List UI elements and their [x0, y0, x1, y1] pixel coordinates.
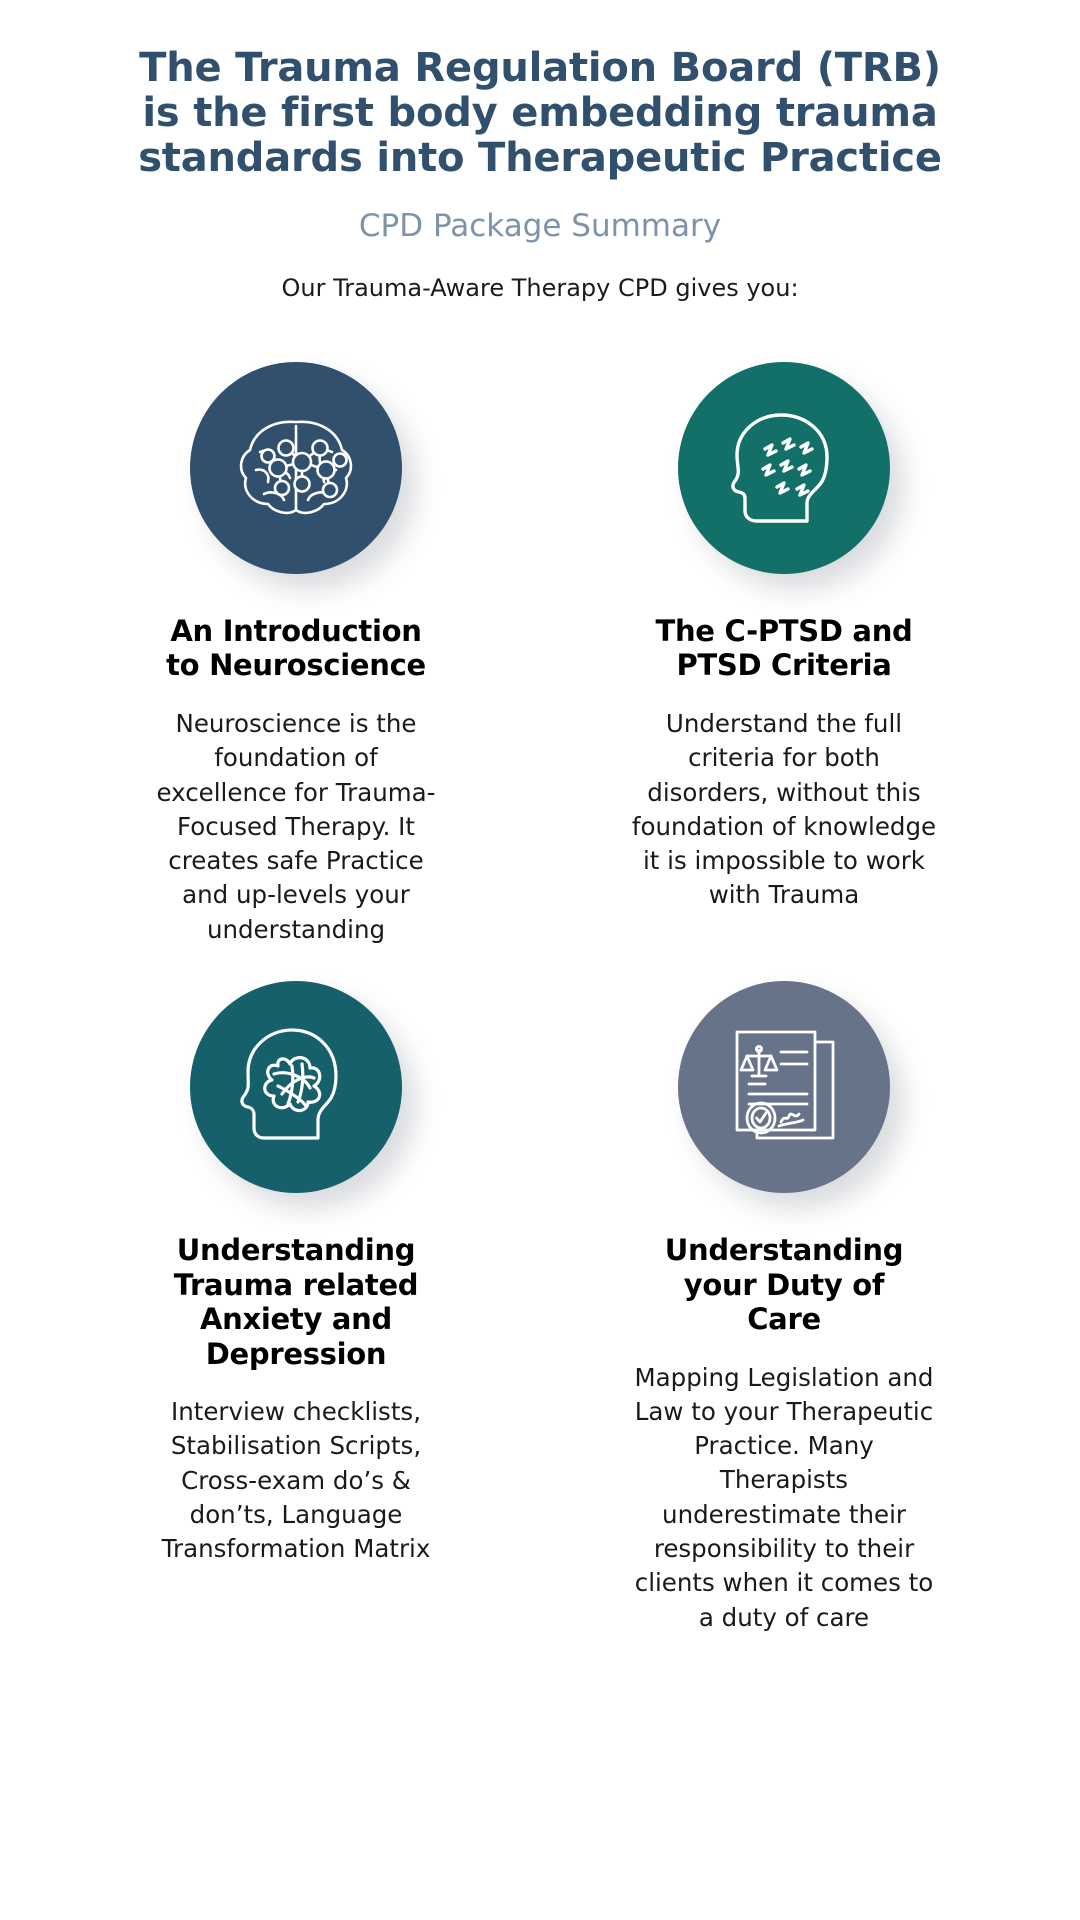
- legal-document-scales-seal-icon: [678, 981, 890, 1193]
- card-title: Understanding your Duty of Care: [649, 1233, 919, 1337]
- feature-card-grid: An Introduction to Neuroscience Neurosci…: [0, 362, 1080, 1635]
- card-title: Understanding Trauma related Anxiety and…: [131, 1233, 461, 1371]
- infographic-page: The Trauma Regulation Board (TRB) is the…: [0, 0, 1080, 1920]
- card-title: The C-PTSD and PTSD Criteria: [654, 614, 914, 683]
- head-with-tangled-thoughts-icon: [190, 981, 402, 1193]
- card-description: Understand the full criteria for both di…: [624, 707, 944, 913]
- page-title: The Trauma Regulation Board (TRB) is the…: [120, 46, 960, 182]
- intro-text: Our Trauma-Aware Therapy CPD gives you:: [60, 273, 1020, 304]
- feature-card-ptsd-criteria: The C-PTSD and PTSD Criteria Understand …: [544, 362, 1024, 947]
- feature-card-neuroscience: An Introduction to Neuroscience Neurosci…: [56, 362, 536, 947]
- head-with-lightning-icon: [678, 362, 890, 574]
- card-description: Mapping Legislation and Law to your Ther…: [628, 1361, 940, 1635]
- header: The Trauma Regulation Board (TRB) is the…: [0, 0, 1080, 304]
- card-title: An Introduction to Neuroscience: [151, 614, 441, 683]
- card-description: Interview checklists, Stabilisation Scri…: [137, 1395, 455, 1566]
- feature-card-duty-of-care: Understanding your Duty of Care Mapping …: [544, 973, 1024, 1635]
- brain-network-icon: [190, 362, 402, 574]
- page-subtitle: CPD Package Summary: [60, 208, 1020, 245]
- card-description: Neuroscience is the foundation of excell…: [146, 707, 446, 947]
- feature-card-anxiety-depression: Understanding Trauma related Anxiety and…: [56, 973, 536, 1635]
